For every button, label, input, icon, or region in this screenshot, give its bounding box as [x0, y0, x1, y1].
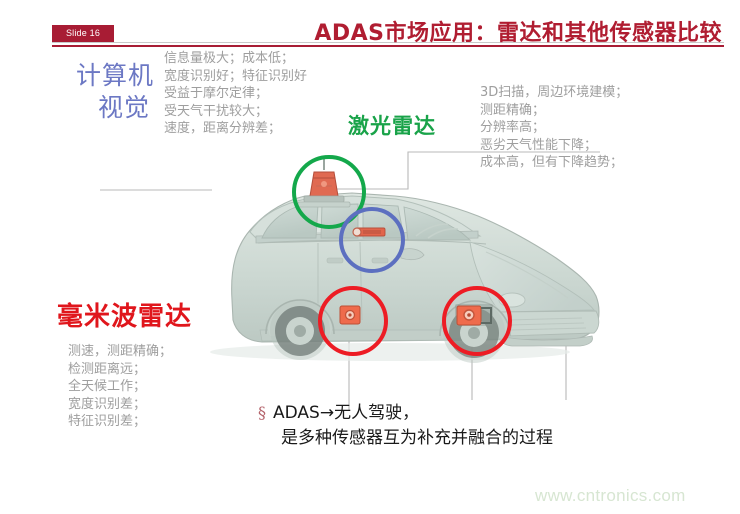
label-computer-vision-line1: 计算机: [76, 61, 154, 90]
section-bullet-icon: §: [258, 403, 266, 422]
bullet-item: 成本高，但有下降趋势；: [480, 154, 628, 172]
conclusion-line1: ADAS→无人驾驶，: [273, 403, 419, 423]
bullet-item: 3D扫描，周边环境建模；: [480, 84, 628, 102]
label-computer-vision-line2: 视觉: [55, 92, 175, 124]
bullet-item: 宽度识别差；: [68, 396, 172, 414]
bullet-item: 宽度识别好；特征识别好: [164, 68, 307, 86]
page-title: ADAS市场应用：雷达和其他传感器比较: [314, 15, 722, 47]
conclusion-line2: 是多种传感器互为补充并融合的过程: [258, 426, 553, 451]
bullet-item: 恶劣天气性能下降；: [480, 137, 628, 155]
bullet-item: 受益于摩尔定律；: [164, 85, 307, 103]
bullet-item: 分辨率高；: [480, 119, 628, 137]
bullets-lidar: 3D扫描，周边环境建模； 测距精确； 分辨率高； 恶劣天气性能下降； 成本高，但…: [480, 84, 628, 172]
bullet-item: 速度，距离分辨差；: [164, 120, 307, 138]
conclusion-block: §ADAS→无人驾驶， 是多种传感器互为补充并融合的过程: [258, 400, 553, 451]
bullet-item: 全天候工作；: [68, 378, 172, 396]
bullets-mmwave-radar: 测速，测距精确； 检测距离远； 全天候工作； 宽度识别差； 特征识别差；: [68, 343, 172, 431]
callout-ring-camera: [339, 207, 405, 273]
bullet-item: 测速，测距精确；: [68, 343, 172, 361]
slide-number-badge: Slide 16: [52, 25, 114, 42]
label-mmwave-radar: 毫米波雷达: [57, 296, 192, 333]
bullet-item: 信息量极大；成本低；: [164, 50, 307, 68]
bullet-item: 测距精确；: [480, 102, 628, 120]
bullet-item: 特征识别差；: [68, 413, 172, 431]
watermark: www.cntronics.com: [535, 486, 686, 506]
label-computer-vision: 计算机 视觉: [55, 60, 175, 124]
bullets-computer-vision: 信息量极大；成本低； 宽度识别好；特征识别好 受益于摩尔定律； 受天气干扰较大；…: [164, 50, 307, 138]
callout-ring-front-radar: [442, 286, 512, 356]
label-lidar: 激光雷达: [348, 110, 436, 140]
slide-canvas: Slide 16 ADAS市场应用：雷达和其他传感器比较: [0, 0, 740, 514]
bullet-item: 受天气干扰较大；: [164, 103, 307, 121]
callout-ring-rear-radar: [318, 286, 388, 356]
bullet-item: 检测距离远；: [68, 361, 172, 379]
